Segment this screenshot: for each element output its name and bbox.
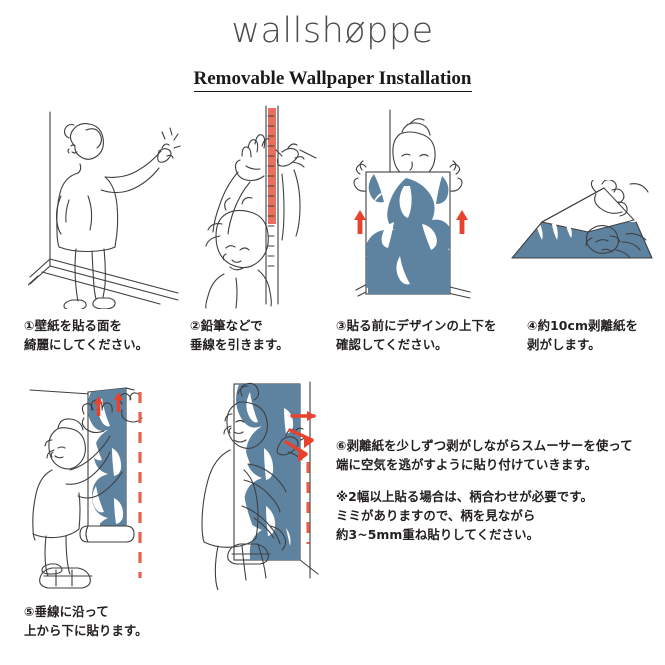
illustration-step-3 xyxy=(338,104,488,309)
direction-arrow-up-right xyxy=(456,210,468,234)
illustration-step-6 xyxy=(198,378,343,590)
caption-step-6: ⑥剥離紙を少しずつ剥がしながらスムーサーを使って 端に空気を逃がすように貼り付け… xyxy=(336,436,665,474)
caption-step-5: ⑤垂線に沿って 上から下に貼ります。 xyxy=(24,602,194,640)
caption-step-3: ③貼る前にデザインの上下を 確認してください。 xyxy=(336,316,516,354)
page-title: Removable Wallpaper Installation xyxy=(0,68,665,91)
caption-step-4: ④約10cm剥離紙を 剥がします。 xyxy=(527,316,665,354)
illustration-step-1 xyxy=(28,104,198,309)
brand-logo: wallshøppe xyxy=(0,14,665,49)
page-title-text: Removable Wallpaper Installation xyxy=(194,68,472,92)
illustration-step-2 xyxy=(196,104,336,309)
illustration-step-5 xyxy=(22,378,197,590)
pattern-matching-note: ※2幅以上貼る場合は、柄合わせが必要です。 ミミがありますので、柄を見ながら 約… xyxy=(336,487,665,545)
caption-step-1: ①壁紙を貼る面を 綺麗にしてください。 xyxy=(24,316,184,354)
illustration-step-4 xyxy=(484,180,659,295)
wallpaper-roll xyxy=(80,526,134,542)
direction-arrow-up-left xyxy=(354,210,366,234)
caption-step-2: ②鉛筆などで 垂線を引きます。 xyxy=(190,316,340,354)
